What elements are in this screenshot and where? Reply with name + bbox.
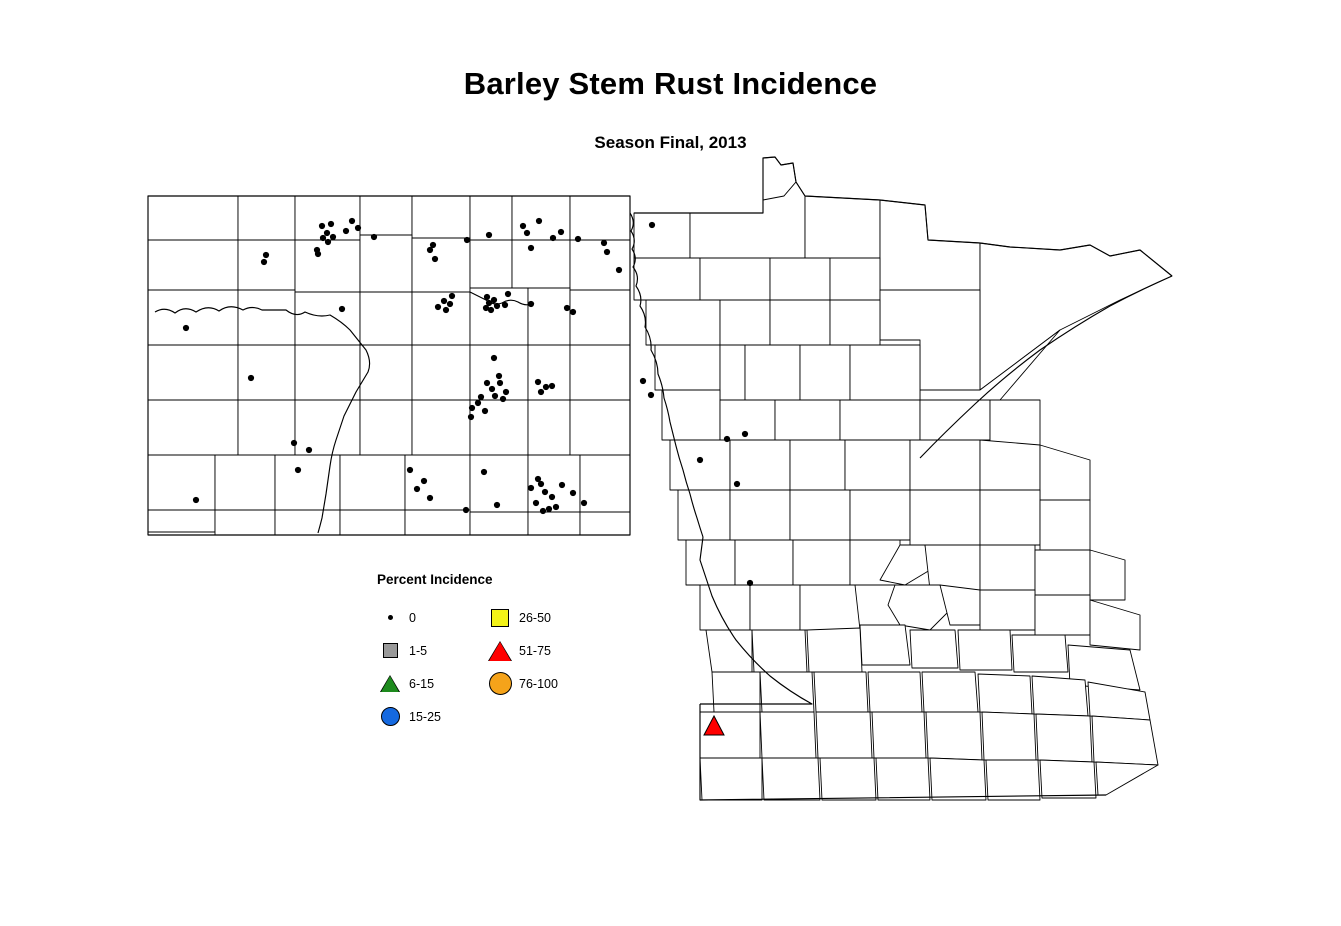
survey-point (538, 389, 544, 395)
map-canvas (0, 0, 1341, 926)
survey-point (549, 383, 555, 389)
survey-point (559, 482, 565, 488)
survey-point (427, 495, 433, 501)
survey-point (482, 408, 488, 414)
survey-point (407, 467, 413, 473)
survey-point (528, 485, 534, 491)
legend-label: 15-25 (405, 710, 441, 724)
survey-point (484, 380, 490, 386)
legend-blue-circle-icon (375, 707, 405, 726)
survey-point (581, 500, 587, 506)
legend-orange-circle-icon (485, 672, 515, 695)
survey-point (505, 291, 511, 297)
survey-point (616, 267, 622, 273)
legend-item-76-100[interactable]: 76-100 (485, 667, 558, 700)
legend-item-1-5[interactable]: 1-5 (375, 634, 485, 667)
survey-point (355, 225, 361, 231)
survey-point (488, 307, 494, 313)
survey-point (371, 234, 377, 240)
survey-point (325, 239, 331, 245)
survey-point (447, 301, 453, 307)
legend-heading: Percent Incidence (377, 572, 595, 587)
survey-point (496, 373, 502, 379)
minnesota-counties (630, 157, 1172, 800)
survey-point (575, 236, 581, 242)
legend-item-6-15[interactable]: 6-15 (375, 667, 485, 700)
survey-point (536, 218, 542, 224)
survey-point (469, 405, 475, 411)
survey-point (494, 303, 500, 309)
state-county-map (0, 0, 1341, 926)
survey-point (330, 234, 336, 240)
survey-point (553, 504, 559, 510)
survey-point (432, 256, 438, 262)
survey-point (497, 380, 503, 386)
survey-point (343, 228, 349, 234)
survey-point (478, 394, 484, 400)
survey-point (324, 230, 330, 236)
survey-point (248, 375, 254, 381)
legend-label: 51-75 (515, 644, 551, 658)
survey-point (742, 431, 748, 437)
survey-point (306, 447, 312, 453)
survey-point (564, 305, 570, 311)
survey-point (648, 392, 654, 398)
survey-point (528, 301, 534, 307)
legend-item-51-75[interactable]: 51-75 (485, 634, 558, 667)
survey-point (528, 245, 534, 251)
legend-yellow-square-icon (485, 609, 515, 627)
survey-point (421, 478, 427, 484)
survey-point (494, 502, 500, 508)
survey-point (543, 384, 549, 390)
survey-point (697, 457, 703, 463)
legend-label: 0 (405, 611, 416, 625)
map-legend: Percent Incidence 0 1-5 6-15 15-25 (375, 572, 595, 722)
legend-item-26-50[interactable]: 26-50 (485, 601, 558, 634)
survey-point (570, 309, 576, 315)
survey-point (540, 508, 546, 514)
survey-point (183, 325, 189, 331)
survey-point (558, 229, 564, 235)
survey-point (604, 249, 610, 255)
survey-point (443, 307, 449, 313)
survey-point (486, 232, 492, 238)
legend-item-15-25[interactable]: 15-25 (375, 700, 485, 733)
legend-red-triangle-icon (485, 641, 515, 661)
survey-point (500, 396, 506, 402)
survey-point (503, 389, 509, 395)
survey-point (414, 486, 420, 492)
legend-label: 6-15 (405, 677, 434, 691)
survey-point (492, 393, 498, 399)
survey-point (533, 500, 539, 506)
survey-point (724, 436, 730, 442)
north-dakota-counties (148, 196, 630, 535)
legend-item-0[interactable]: 0 (375, 601, 485, 634)
survey-point (193, 497, 199, 503)
survey-point (441, 298, 447, 304)
legend-green-triangle-icon (375, 675, 405, 692)
survey-point (484, 294, 490, 300)
survey-point (319, 223, 325, 229)
legend-gray-square-icon (375, 643, 405, 658)
survey-point (430, 242, 436, 248)
survey-point (464, 237, 470, 243)
survey-point (263, 252, 269, 258)
survey-point (463, 507, 469, 513)
survey-point (489, 386, 495, 392)
survey-point (570, 490, 576, 496)
survey-point (315, 251, 321, 257)
survey-point (550, 235, 556, 241)
survey-point (601, 240, 607, 246)
survey-point (468, 414, 474, 420)
survey-point (524, 230, 530, 236)
survey-point (295, 467, 301, 473)
survey-point (649, 222, 655, 228)
survey-point (435, 304, 441, 310)
survey-point (747, 580, 753, 586)
survey-point (449, 293, 455, 299)
survey-point (640, 378, 646, 384)
legend-label: 76-100 (515, 677, 558, 691)
survey-point (502, 302, 508, 308)
survey-point (339, 306, 345, 312)
legend-label: 1-5 (405, 644, 427, 658)
survey-point (481, 469, 487, 475)
survey-point (328, 221, 334, 227)
survey-point (549, 494, 555, 500)
survey-point (734, 481, 740, 487)
survey-point (320, 235, 326, 241)
survey-point (475, 400, 481, 406)
survey-point (291, 440, 297, 446)
survey-point (491, 297, 497, 303)
survey-point (491, 355, 497, 361)
legend-label: 26-50 (515, 611, 551, 625)
survey-point (535, 379, 541, 385)
legend-column-left: 0 1-5 6-15 15-25 (375, 601, 485, 733)
survey-point (538, 481, 544, 487)
survey-point (546, 506, 552, 512)
survey-point (261, 259, 267, 265)
legend-dot-icon (375, 615, 405, 620)
legend-column-right: 26-50 51-75 76-100 (485, 601, 558, 733)
survey-point (520, 223, 526, 229)
survey-point (542, 489, 548, 495)
survey-point (349, 218, 355, 224)
